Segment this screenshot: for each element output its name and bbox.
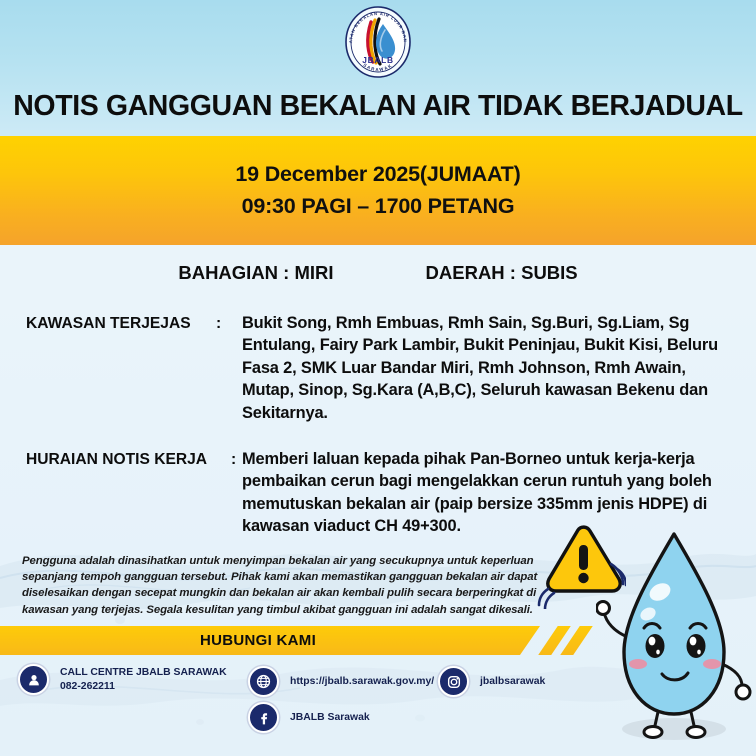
contact-item-instagram[interactable]: jbalbsarawak <box>438 666 545 697</box>
notice-date: 19 December 2025(JUMAAT) <box>235 159 520 190</box>
work-description-colon: : <box>231 448 242 472</box>
contact-text-instagram: jbalbsarawak <box>480 675 545 689</box>
affected-areas-row: KAWASAN TERJEJAS : Bukit Song, Rmh Embua… <box>26 312 732 424</box>
jbalb-seal-logo: JBALB JABATAN BEKALAN AIR LUAR BANDAR SA… <box>341 4 415 80</box>
affected-areas-label: KAWASAN TERJEJAS <box>26 312 216 336</box>
division-label: BAHAGIAN : MIRI <box>178 262 333 284</box>
date-time-banner: 19 December 2025(JUMAAT) 09:30 PAGI – 17… <box>0 136 756 245</box>
logo-acronym-text: JBALB <box>362 55 393 65</box>
contact-bar: HUBUNGI KAMI <box>0 626 540 655</box>
contact-text-website: https://jbalb.sarawak.gov.my/ <box>290 675 434 689</box>
region-row: BAHAGIAN : MIRI DAERAH : SUBIS <box>0 262 756 284</box>
notice-time: 09:30 PAGI – 1700 PETANG <box>242 191 515 222</box>
call-centre-name: CALL CENTRE JBALB SARAWAK <box>60 667 227 678</box>
affected-areas-colon: : <box>216 312 242 336</box>
person-icon <box>18 664 49 695</box>
contact-text-call-centre: CALL CENTRE JBALB SARAWAK 082-262211 <box>60 666 227 693</box>
globe-icon <box>248 666 279 697</box>
contact-text-facebook: JBALB Sarawak <box>290 711 370 725</box>
contact-item-call-centre[interactable]: CALL CENTRE JBALB SARAWAK 082-262211 <box>18 664 227 695</box>
water-droplet-mascot <box>596 516 756 756</box>
affected-areas-value: Bukit Song, Rmh Embuas, Rmh Sain, Sg.Bur… <box>242 312 732 424</box>
poster-header: JBALB JABATAN BEKALAN AIR LUAR BANDAR SA… <box>0 0 756 136</box>
contact-bar-title: HUBUNGI KAMI <box>0 626 516 655</box>
advisory-text: Pengguna adalah dinasihatkan untuk menyi… <box>22 553 552 618</box>
water-disruption-notice-poster: JBALB JABATAN BEKALAN AIR LUAR BANDAR SA… <box>0 0 756 756</box>
instagram-icon <box>438 666 469 697</box>
facebook-icon <box>248 702 279 733</box>
work-description-label: HURAIAN NOTIS KERJA <box>26 448 231 472</box>
contact-item-website[interactable]: https://jbalb.sarawak.gov.my/ <box>248 666 434 697</box>
contact-list: CALL CENTRE JBALB SARAWAK 082-262211 htt… <box>0 660 620 750</box>
call-centre-number: 082-262211 <box>60 680 227 694</box>
contact-item-facebook[interactable]: JBALB Sarawak <box>248 702 370 733</box>
district-label: DAERAH : SUBIS <box>426 262 578 284</box>
page-title: NOTIS GANGGUAN BEKALAN AIR TIDAK BERJADU… <box>0 92 756 121</box>
